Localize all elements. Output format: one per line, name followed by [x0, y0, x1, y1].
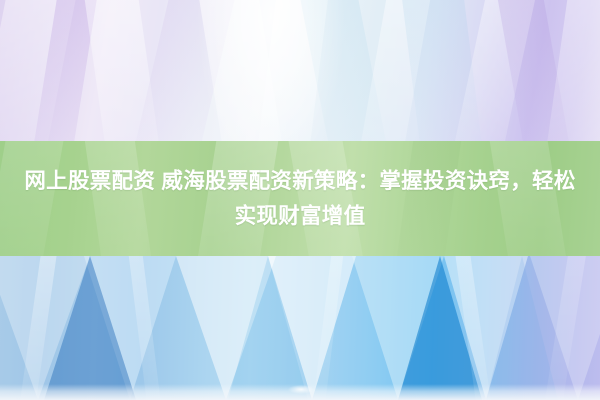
bottom-blue-panel [0, 256, 600, 400]
facet-triangle-up [44, 256, 136, 400]
facet-highlight [196, 0, 346, 141]
top-pastel-panel [0, 0, 600, 141]
bottom-fade-strip [0, 384, 600, 400]
facet-triangle-up [486, 256, 558, 400]
facet-triangle-up [228, 256, 308, 400]
headline-container: 网上股票配资 威海股票配资新策略：掌握投资诀窍，轻松实现财富增值 [0, 141, 600, 256]
promo-banner: 网上股票配资 威海股票配资新策略：掌握投资诀窍，轻松实现财富增值 [0, 0, 600, 400]
page-title: 网上股票配资 威海股票配资新策略：掌握投资诀窍，轻松实现财富增值 [18, 164, 582, 234]
